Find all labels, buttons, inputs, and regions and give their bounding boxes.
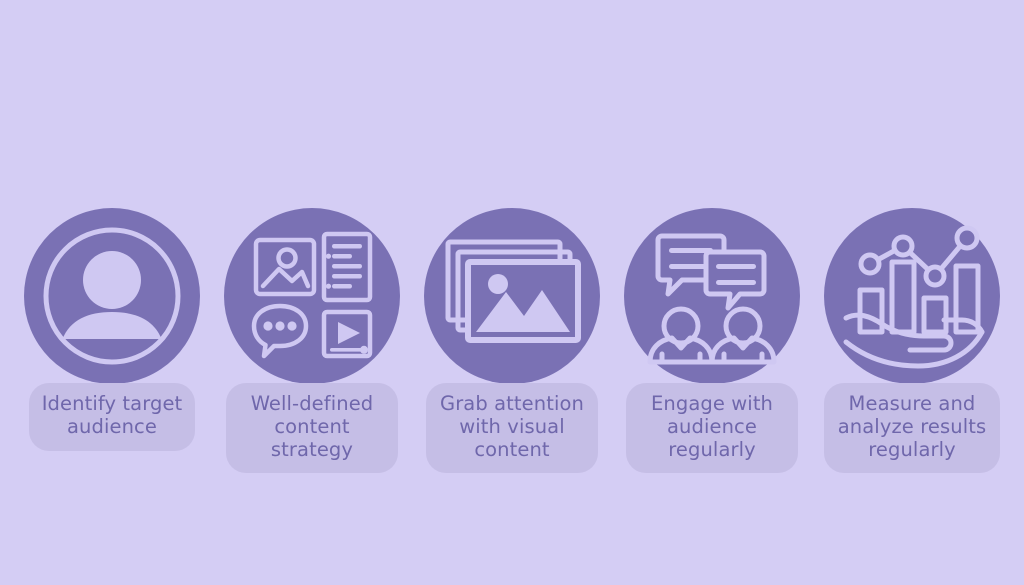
steps-row: Identify targetaudience xyxy=(0,208,1024,473)
step-label-line: Measure and xyxy=(838,393,986,416)
step-label-text: Engage withaudienceregularly xyxy=(651,393,773,461)
target-audience-person-icon xyxy=(24,208,200,384)
step-label-pill: Identify targetaudience xyxy=(29,383,195,451)
step-measure-analyze-results[interactable]: Measure andanalyze resultsregularly xyxy=(823,208,1001,473)
step-label-line: Well-defined xyxy=(251,393,374,416)
step-label-line: audience xyxy=(651,416,773,439)
step-label-line: regularly xyxy=(838,439,986,462)
step-label-line: strategy xyxy=(251,439,374,462)
step-icon-circle xyxy=(824,208,1000,384)
step-label-text: Identify targetaudience xyxy=(42,393,183,439)
step-icon-circle xyxy=(224,208,400,384)
step-label-text: Measure andanalyze resultsregularly xyxy=(838,393,986,461)
step-icon-circle xyxy=(624,208,800,384)
measure-analyze-hand-chart-icon xyxy=(824,208,1000,384)
step-label-line: Identify target xyxy=(42,393,183,416)
engage-audience-chat-people-icon xyxy=(624,208,800,384)
step-label-text: Well-definedcontentstrategy xyxy=(251,393,374,461)
step-grab-attention-visual-content[interactable]: Grab attentionwith visualcontent xyxy=(423,208,601,473)
step-label-pill: Well-definedcontentstrategy xyxy=(226,383,398,473)
step-icon-circle xyxy=(24,208,200,384)
content-strategy-grid-icon xyxy=(224,208,400,384)
step-label-text: Grab attentionwith visualcontent xyxy=(440,393,584,461)
visual-content-photos-icon xyxy=(424,208,600,384)
step-label-line: analyze results xyxy=(838,416,986,439)
step-label-pill: Measure andanalyze resultsregularly xyxy=(824,383,1000,473)
step-label-line: regularly xyxy=(651,439,773,462)
step-label-line: content xyxy=(440,439,584,462)
infographic-canvas: Identify targetaudience xyxy=(0,0,1024,585)
step-well-defined-content-strategy[interactable]: Well-definedcontentstrategy xyxy=(223,208,401,473)
step-label-line: Grab attention xyxy=(440,393,584,416)
step-label-line: with visual xyxy=(440,416,584,439)
step-label-line: audience xyxy=(42,416,183,439)
step-label-pill: Engage withaudienceregularly xyxy=(626,383,798,473)
step-engage-with-audience[interactable]: Engage withaudienceregularly xyxy=(623,208,801,473)
step-identify-target-audience[interactable]: Identify targetaudience xyxy=(23,208,201,451)
step-label-line: content xyxy=(251,416,374,439)
step-icon-circle xyxy=(424,208,600,384)
step-label-line: Engage with xyxy=(651,393,773,416)
step-label-pill: Grab attentionwith visualcontent xyxy=(426,383,598,473)
